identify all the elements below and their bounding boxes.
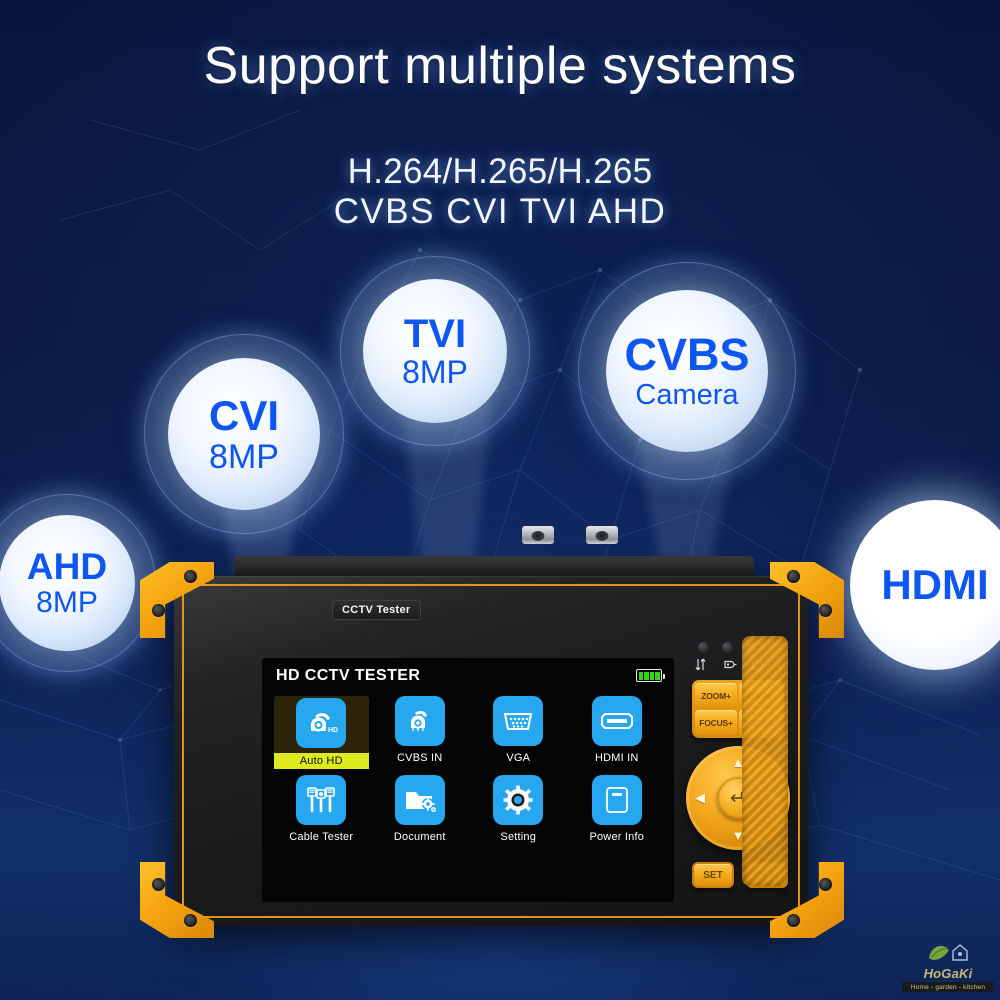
- screw: [787, 570, 800, 583]
- bubble-core: HDMI: [850, 500, 1000, 670]
- screw: [819, 604, 832, 617]
- watermark-logo-icon: [925, 940, 971, 966]
- cctv-tester-device: CCTV Tester HD CCTV TESTER: [138, 540, 846, 958]
- watermark-tagline: Home - garden - kitchen: [902, 982, 994, 992]
- power-meter-icon: [592, 775, 642, 825]
- bubble-core: AHD 8MP: [0, 515, 135, 651]
- screen-title: HD CCTV TESTER: [276, 667, 420, 685]
- watermark-name: HoGaKi: [902, 966, 994, 981]
- screw: [819, 878, 832, 891]
- tile-cable-tester[interactable]: Cable Tester: [274, 775, 369, 848]
- device-side-grip: [742, 636, 788, 886]
- device-screen[interactable]: HD CCTV TESTER: [262, 658, 674, 902]
- tile-label: Auto HD: [274, 753, 369, 769]
- battery-bar: [650, 672, 655, 680]
- led-charge: [698, 642, 709, 653]
- tile-setting[interactable]: Setting: [471, 775, 566, 848]
- focus-in-button[interactable]: FOCUS+: [695, 710, 737, 735]
- tile-label: Cable Tester: [284, 830, 358, 844]
- tile-label: Setting: [495, 830, 541, 844]
- gear-icon: [493, 775, 543, 825]
- screw: [152, 878, 165, 891]
- tile-label: CVBS IN: [392, 751, 447, 765]
- tile-hdmi-in[interactable]: HDMI IN: [570, 696, 665, 769]
- bubble-label-main: CVI: [209, 395, 279, 437]
- bubble-core: CVBS Camera: [606, 290, 768, 452]
- bubble-label-sub: 8MP: [402, 356, 468, 388]
- plug-icon: [722, 658, 737, 671]
- ptz-camera-hd-icon: HD: [296, 698, 346, 748]
- tile-label: Document: [389, 830, 451, 844]
- device-brand-label: CCTV Tester: [332, 600, 421, 620]
- battery-bar: [639, 672, 644, 680]
- codec-line-1: H.264/H.265/H.265: [0, 152, 1000, 192]
- tile-label: VGA: [501, 751, 535, 765]
- bubble-label-main: AHD: [27, 548, 107, 585]
- screw: [184, 570, 197, 583]
- page-title: Support multiple systems: [0, 36, 1000, 96]
- bubble-label-main: TVI: [404, 314, 466, 354]
- svg-text:HD: HD: [328, 727, 338, 734]
- bubble-core: TVI 8MP: [363, 279, 507, 423]
- bubble-label-sub: 8MP: [36, 588, 98, 618]
- zoom-in-button[interactable]: ZOOM+: [695, 683, 737, 708]
- screw: [184, 914, 197, 927]
- charge-icon: [694, 658, 707, 671]
- tile-vga[interactable]: VGA: [471, 696, 566, 769]
- bubble-label-sub: 8MP: [209, 440, 279, 474]
- tile-label: Power Info: [584, 830, 649, 844]
- vga-connector-icon: [493, 696, 543, 746]
- watermark: HoGaKi Home - garden - kitchen: [902, 940, 994, 992]
- bubble-label-main: CVBS: [624, 332, 749, 377]
- battery-icon: [636, 669, 662, 682]
- bubble-tvi: TVI 8MP: [340, 256, 530, 446]
- bnc-connector-1: [522, 526, 554, 544]
- cable-plugs-icon: [296, 775, 346, 825]
- tile-label: HDMI IN: [590, 751, 644, 765]
- tile-document[interactable]: Document: [373, 775, 468, 848]
- screw: [787, 914, 800, 927]
- hdmi-connector-icon: [592, 696, 642, 746]
- bubble-label-main: HDMI: [881, 564, 988, 606]
- app-tile-grid: HD Auto HD: [274, 696, 664, 848]
- folder-gear-icon: [395, 775, 445, 825]
- tile-auto-hd[interactable]: HD Auto HD: [274, 696, 369, 769]
- bubble-cvbs: CVBS Camera: [578, 262, 796, 480]
- battery-bar: [655, 672, 660, 680]
- bubble-core: CVI 8MP: [168, 358, 320, 510]
- battery-bar: [644, 672, 649, 680]
- led-plug: [722, 642, 733, 653]
- bnc-connector-2: [586, 526, 618, 544]
- tile-cvbs-in[interactable]: CVBS IN: [373, 696, 468, 769]
- bubble-cvi: CVI 8MP: [144, 334, 344, 534]
- codec-line-2: CVBS CVI TVI AHD: [0, 192, 1000, 232]
- screw: [152, 604, 165, 617]
- bubble-label-sub: Camera: [635, 381, 738, 410]
- dome-camera-icon: [395, 696, 445, 746]
- dpad-left-button[interactable]: ◀: [695, 790, 705, 806]
- set-button[interactable]: SET: [692, 862, 734, 888]
- device-body: CCTV Tester HD CCTV TESTER: [174, 576, 808, 926]
- tile-power-info[interactable]: Power Info: [570, 775, 665, 848]
